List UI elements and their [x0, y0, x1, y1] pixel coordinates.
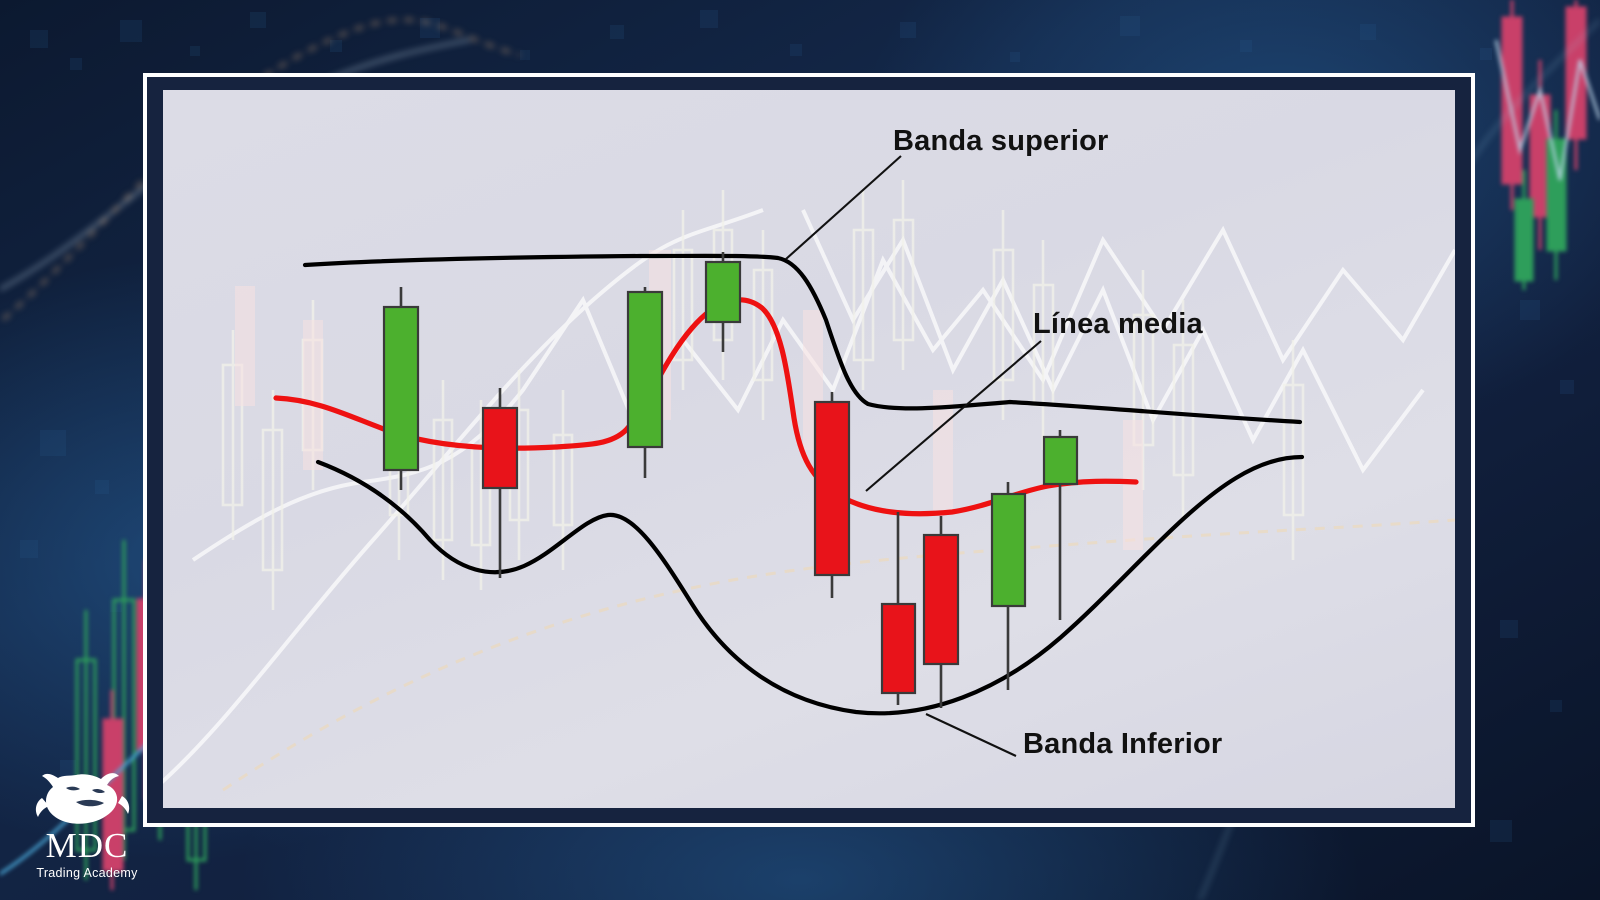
annotation-label-lower-band: Banda Inferior — [1023, 728, 1222, 761]
candle-6 — [882, 512, 915, 705]
candle-5 — [815, 392, 849, 598]
annotation-label-upper-band: Banda superior — [893, 125, 1109, 158]
candle-series — [384, 252, 1077, 708]
screenshot-root: Banda superior Línea media Banda Inferio… — [0, 0, 1600, 900]
candle-4 — [706, 252, 740, 352]
candle-7 — [924, 516, 958, 708]
logo-tagline-text: Trading Academy — [22, 866, 152, 880]
mdc-logo: MDC Trading Academy — [22, 768, 152, 888]
leader-line-middle — [866, 341, 1041, 491]
bollinger-chart — [163, 90, 1455, 808]
bull-head-icon — [22, 768, 152, 830]
candle-8 — [992, 482, 1025, 690]
candle-3 — [628, 287, 662, 478]
lower-band-line — [318, 457, 1302, 713]
chart-panel — [163, 90, 1455, 808]
leader-line-upper — [786, 156, 901, 259]
candle-9 — [1044, 430, 1077, 620]
logo-brand-text: MDC — [22, 828, 152, 863]
leader-line-lower — [926, 714, 1016, 756]
candle-1 — [384, 287, 418, 490]
candle-2 — [483, 388, 517, 578]
annotation-label-middle-line: Línea media — [1033, 308, 1203, 341]
